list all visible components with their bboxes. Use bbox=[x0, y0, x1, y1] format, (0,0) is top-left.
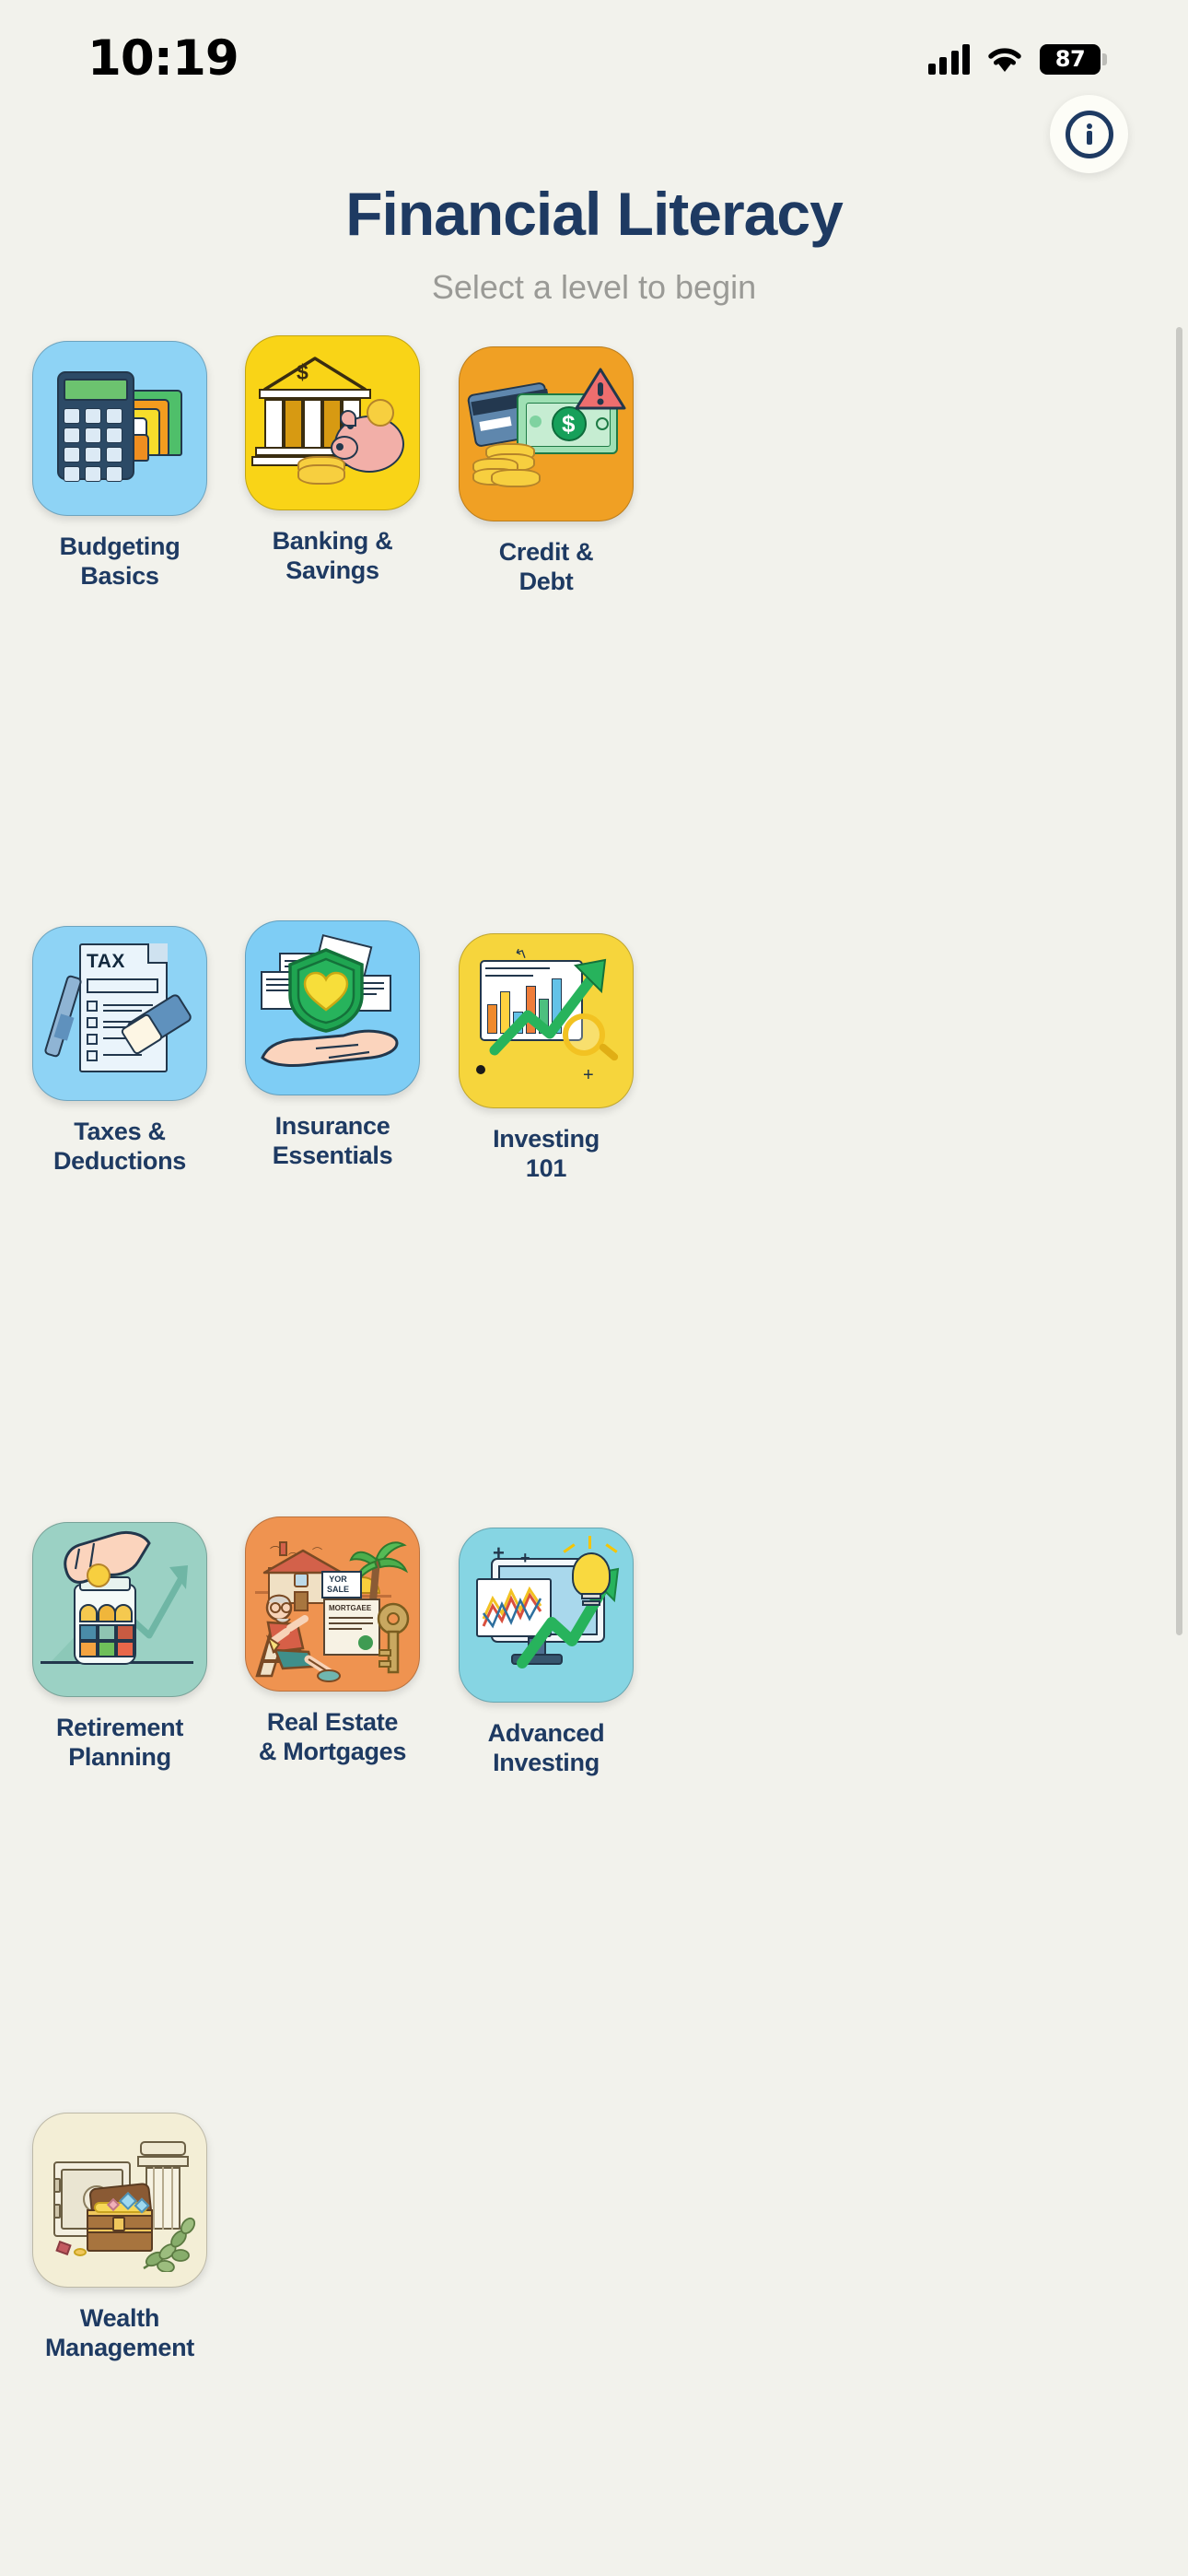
monitor-chart-lightbulb-illustration: + + bbox=[460, 1528, 633, 1702]
credit-card-cash-warning-illustration: $ bbox=[460, 347, 633, 521]
battery-icon: 87 bbox=[1040, 44, 1101, 75]
label-line-2: Debt bbox=[408, 568, 684, 597]
status-bar: 10:19 87 bbox=[0, 0, 1188, 111]
page-header: Financial Literacy Select a level to beg… bbox=[0, 181, 1188, 307]
banking-savings-tile[interactable]: $ bbox=[245, 335, 420, 510]
level-label: Wealth Management bbox=[0, 2304, 258, 2363]
battery-percent: 87 bbox=[1055, 46, 1085, 72]
level-label: Credit & Debt bbox=[408, 538, 684, 597]
page-subtitle: Select a level to begin bbox=[0, 268, 1188, 307]
level-card-wealth-management[interactable]: Wealth Management bbox=[0, 2113, 258, 2363]
info-button[interactable] bbox=[1050, 95, 1128, 173]
level-row: Wealth Management bbox=[0, 1212, 1188, 1516]
level-card-advanced-investing[interactable]: + + Advanced Investing bbox=[408, 1528, 684, 1778]
real-estate-mortgages-tile[interactable]: ︵ ︵ ︵ bbox=[245, 1516, 420, 1692]
label-line-2: Management bbox=[0, 2334, 258, 2363]
info-icon bbox=[1066, 111, 1113, 158]
level-label: Advanced Investing bbox=[408, 1719, 684, 1778]
label-line-2: Investing bbox=[408, 1749, 684, 1778]
status-time: 10:19 bbox=[87, 30, 239, 87]
calculator-and-folders-illustration bbox=[33, 342, 206, 515]
wifi-icon bbox=[985, 44, 1024, 74]
advanced-investing-tile[interactable]: + + bbox=[459, 1528, 634, 1703]
credit-debt-tile[interactable]: $ bbox=[459, 346, 634, 521]
level-row: Budgeting Basics $ bbox=[0, 313, 1188, 617]
level-row: Retirement Planning ︵ ︵ ︵ bbox=[0, 912, 1188, 1216]
level-card-credit-debt[interactable]: $ Credit bbox=[408, 346, 684, 597]
label-line-1: Credit & bbox=[408, 538, 684, 568]
wealth-management-tile[interactable] bbox=[32, 2113, 207, 2288]
coin-jar-hand-growth-illustration bbox=[33, 1523, 206, 1696]
cellular-signal-icon bbox=[928, 43, 971, 75]
status-indicators: 87 bbox=[928, 43, 1101, 75]
level-row: TAX bbox=[0, 613, 1188, 917]
label-line-1: Advanced bbox=[408, 1719, 684, 1749]
beach-house-mortgage-key-illustration: ︵ ︵ ︵ bbox=[246, 1517, 419, 1691]
label-line-1: Wealth bbox=[0, 2304, 258, 2334]
retirement-planning-tile[interactable] bbox=[32, 1522, 207, 1697]
budgeting-basics-tile[interactable] bbox=[32, 341, 207, 516]
safe-treasure-column-illustration bbox=[33, 2113, 206, 2287]
page-title: Financial Literacy bbox=[0, 181, 1188, 248]
level-grid: Budgeting Basics $ bbox=[0, 313, 1188, 1516]
bank-piggybank-coins-illustration: $ bbox=[246, 336, 419, 509]
